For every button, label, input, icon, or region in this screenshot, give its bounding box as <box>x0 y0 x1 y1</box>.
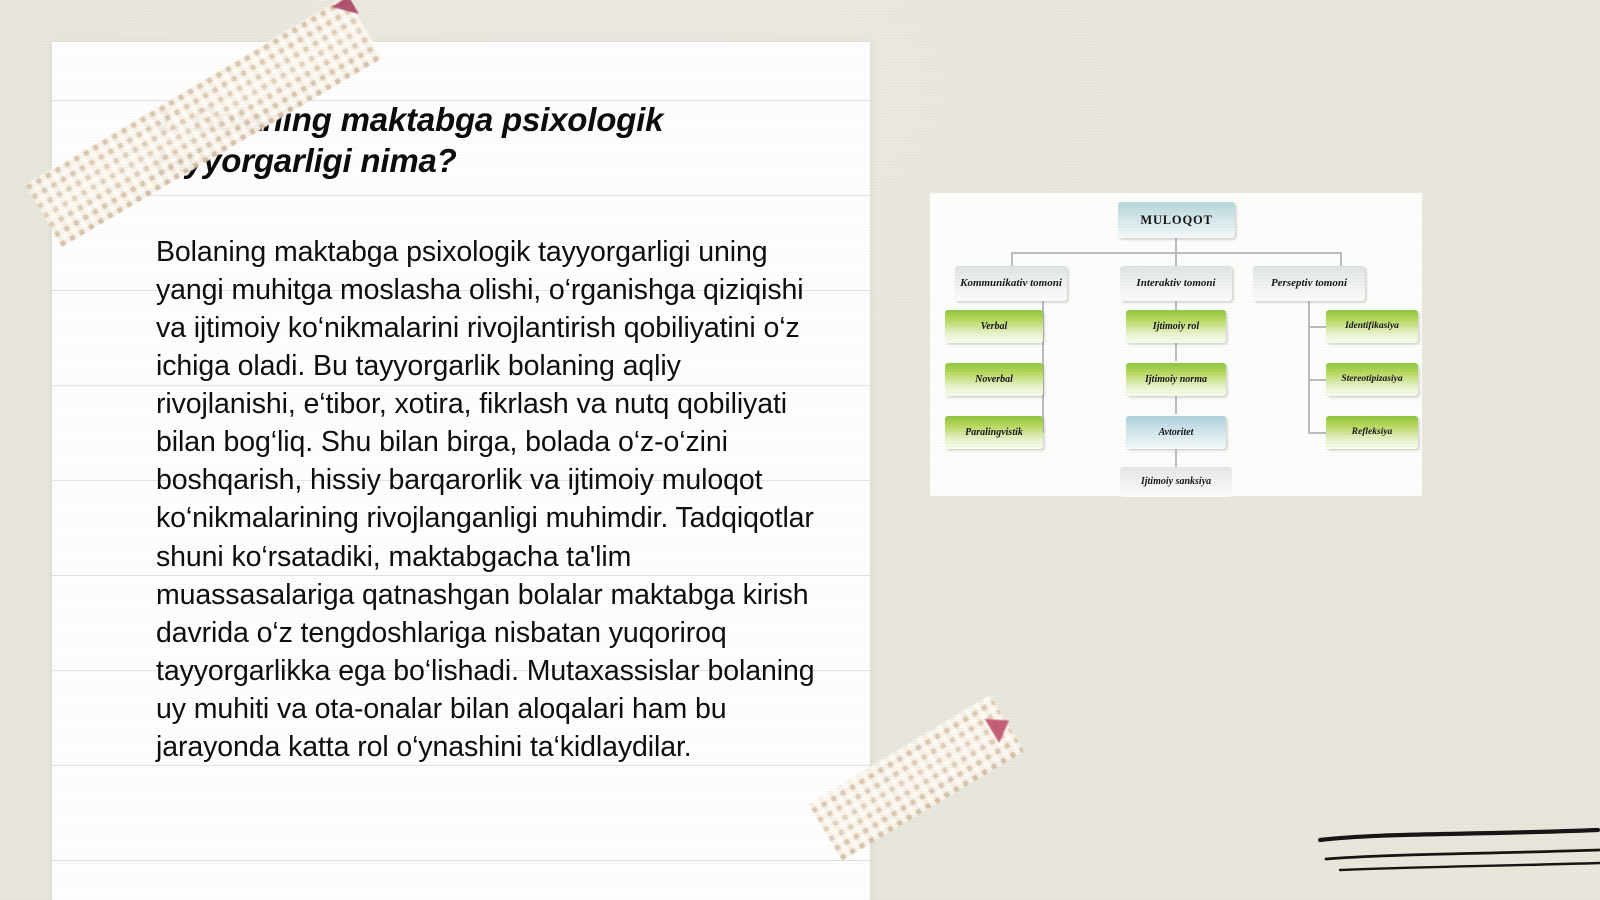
connector <box>1011 252 1013 266</box>
diagram-leaf-1-2: Avtoritet <box>1126 416 1226 449</box>
paper-content: 1. Bolaning maktabga psixologik tayyorga… <box>156 100 836 766</box>
diagram-leaf-1-1: Ijtimoiy norma <box>1126 363 1226 396</box>
communication-diagram: MULOQOT Kommunikativ tomoni Interaktiv t… <box>930 193 1422 496</box>
diagram-leaf-0-2: Paralingvistik <box>945 416 1043 449</box>
diagram-node-branch-1: Interaktiv tomoni <box>1120 266 1232 301</box>
connector <box>1175 447 1177 467</box>
connector <box>1308 301 1310 433</box>
diagram-leaf-0-1: Noverbal <box>945 363 1043 396</box>
scribble-lines-icon <box>1318 826 1600 878</box>
diagram-leaf-0-0: Verbal <box>945 310 1043 343</box>
diagram-leaf-2-0: Identifikasiya <box>1326 310 1418 343</box>
diagram-node-branch-0: Kommunikativ tomoni <box>955 266 1067 301</box>
connector <box>1175 237 1177 253</box>
body-paragraph: Bolaning maktabga psixologik tayyorgarli… <box>156 233 821 766</box>
connector <box>1308 432 1326 434</box>
diagram-node-branch-2: Perseptiv tomoni <box>1253 266 1365 301</box>
connector <box>1340 252 1342 266</box>
diagram-leaf-1-0: Ijtimoiy rol <box>1126 310 1226 343</box>
connector <box>1175 341 1177 361</box>
connector <box>1308 379 1326 381</box>
connector <box>1308 326 1326 328</box>
diagram-leaf-2-1: Stereotipizasiya <box>1326 363 1418 396</box>
diagram-leaf-2-2: Refleksiya <box>1326 416 1418 449</box>
connector <box>1175 394 1177 414</box>
paper-rule-line <box>52 860 870 861</box>
diagram-node-root: MULOQOT <box>1118 202 1235 238</box>
slide-canvas: 1. Bolaning maktabga psixologik tayyorga… <box>0 0 1600 900</box>
connector <box>1175 252 1177 266</box>
diagram-node-footer: Ijtimoiy sanksiya <box>1120 467 1232 497</box>
